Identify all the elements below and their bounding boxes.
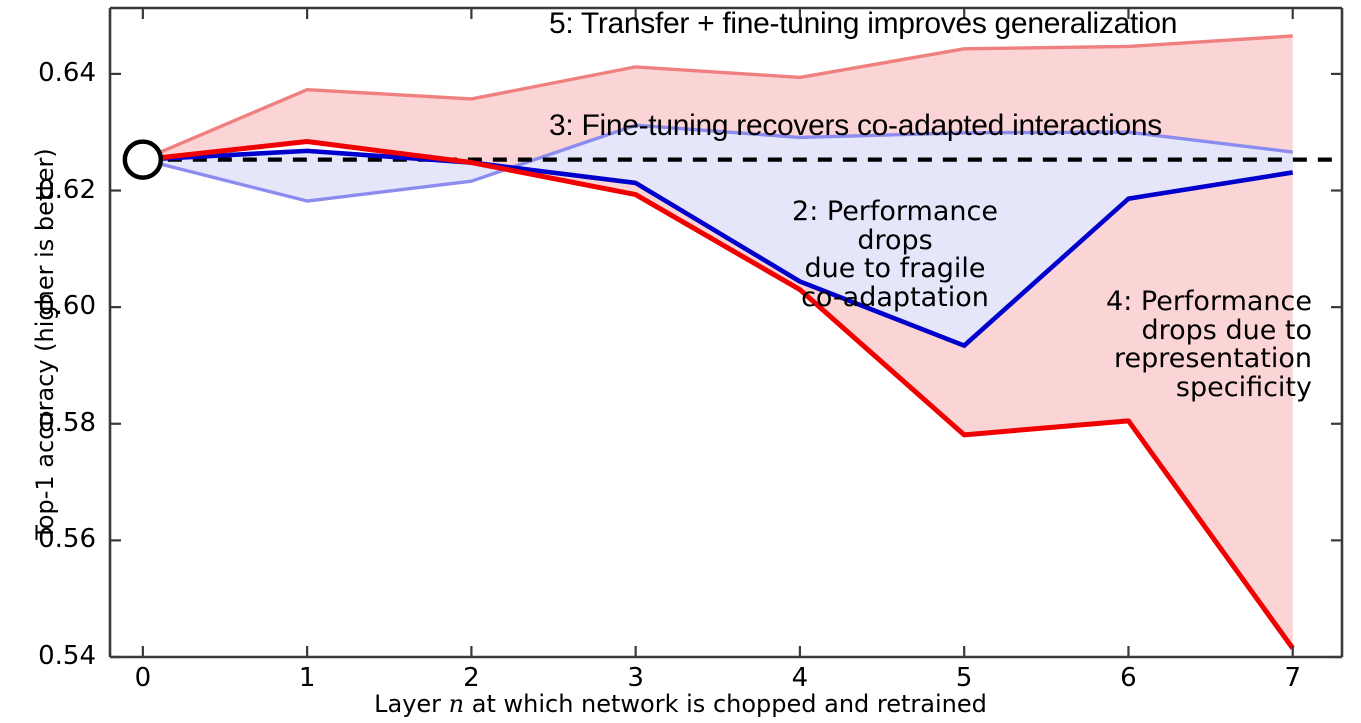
x-axis-label-suffix: at which network is chopped and retraine…: [464, 690, 987, 718]
x-tick-label-0: 0: [113, 663, 173, 693]
x-tick-label-5: 5: [934, 663, 994, 693]
x-tick-label-4: 4: [770, 663, 830, 693]
y-axis-label: Top-1 accuracy (higher is better): [31, 84, 59, 604]
x-tick-label-7: 7: [1263, 663, 1323, 693]
y-tick-label-0.54: 0.54: [0, 641, 96, 671]
chart-figure: 0.540.560.580.600.620.64 01234567 Layer …: [0, 0, 1361, 723]
x-tick-label-2: 2: [441, 663, 501, 693]
annotation-3: 3: Fine-tuning recovers co-adapted inter…: [549, 110, 1162, 142]
annotation-2: 2: Performance drops due to fragile co-a…: [755, 198, 1035, 312]
x-axis-label-variable: n: [449, 690, 464, 718]
annotation-5: 5: Transfer + fine-tuning improves gener…: [549, 8, 1177, 40]
x-tick-label-1: 1: [277, 663, 337, 693]
x-axis-label: Layer n at which network is chopped and …: [0, 690, 1361, 718]
x-tick-label-3: 3: [606, 663, 666, 693]
annotation-4: 4: Performance drops due to representati…: [1022, 288, 1312, 402]
x-axis-label-prefix: Layer: [374, 690, 449, 718]
origin-marker-circle: [125, 142, 161, 178]
x-tick-label-6: 6: [1098, 663, 1158, 693]
